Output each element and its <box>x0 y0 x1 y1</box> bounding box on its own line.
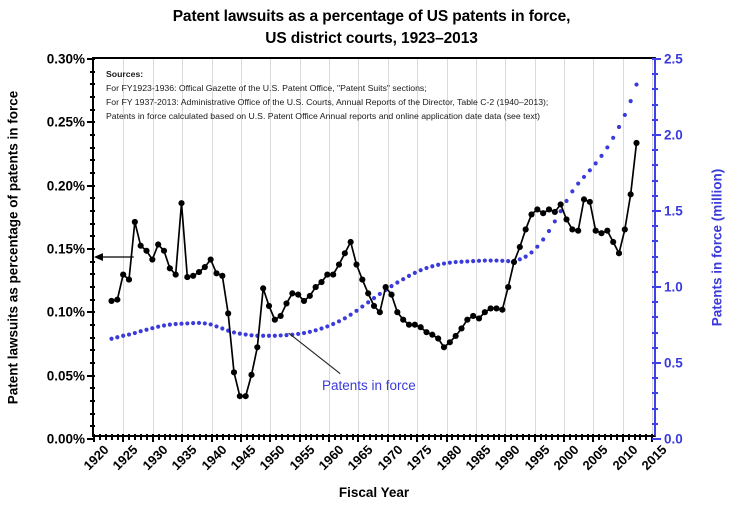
series-point-patent-lawsuits <box>418 324 424 330</box>
series-point-patents-in-force <box>477 259 481 263</box>
y-axis-right-title: Patents in force (million) <box>706 57 728 437</box>
x-axis-tick <box>181 434 183 442</box>
x-axis-minor-tick <box>352 434 354 440</box>
y-axis-right-minor-tick <box>652 301 658 303</box>
x-axis-minor-tick <box>551 434 553 440</box>
series-point-patents-in-force <box>465 259 469 263</box>
series-point-patent-lawsuits <box>342 250 348 256</box>
series-point-patents-in-force <box>109 337 113 341</box>
x-axis-tick-label: 1965 <box>345 442 376 473</box>
series-point-patents-in-force <box>238 332 242 336</box>
y-axis-right-tick-label: 0.5 <box>664 356 683 371</box>
x-axis-minor-tick <box>451 434 453 440</box>
series-point-patent-lawsuits <box>394 309 400 315</box>
series-point-patents-in-force <box>249 333 253 337</box>
y-axis-right-tick <box>652 286 661 288</box>
series-point-patents-in-force <box>599 154 603 158</box>
series-point-patent-lawsuits <box>371 303 377 309</box>
x-axis-minor-tick <box>510 434 512 440</box>
x-axis-tick-label: 1995 <box>521 442 552 473</box>
y-axis-left-tick-label: 0.20% <box>47 178 85 193</box>
series-point-patents-in-force <box>150 326 154 330</box>
series-point-patents-in-force <box>191 321 195 325</box>
patents-in-force-leader-line <box>289 333 341 374</box>
x-axis-tick <box>299 434 301 442</box>
series-point-patent-lawsuits <box>149 256 155 262</box>
x-axis-tick <box>328 434 330 442</box>
series-point-patents-in-force <box>162 323 166 327</box>
series-point-patent-lawsuits <box>138 243 144 249</box>
x-axis-tick <box>211 434 213 442</box>
x-axis-minor-tick <box>369 434 371 440</box>
x-axis-tick-label: 1990 <box>492 442 523 473</box>
series-point-patents-in-force <box>174 322 178 326</box>
x-axis-minor-tick <box>164 434 166 440</box>
series-point-patent-lawsuits <box>336 261 342 267</box>
y-axis-right-minor-tick <box>652 73 658 75</box>
y-axis-left-minor-tick <box>90 299 95 301</box>
x-axis-minor-tick <box>246 434 248 440</box>
x-axis-tick-label: 1945 <box>227 442 258 473</box>
x-axis-minor-tick <box>216 434 218 440</box>
series-point-patent-lawsuits <box>132 219 138 225</box>
x-axis-tick-label: 1930 <box>139 442 170 473</box>
y-axis-left-tick <box>87 248 95 250</box>
series-point-patent-lawsuits <box>528 211 534 217</box>
y-axis-left-minor-tick <box>90 261 95 263</box>
series-point-patent-lawsuits <box>272 317 278 323</box>
series-point-patents-in-force <box>535 245 539 249</box>
y-axis-left-tick-label: 0.10% <box>47 305 85 320</box>
series-point-patent-lawsuits <box>260 285 266 291</box>
series-point-patent-lawsuits <box>470 313 476 319</box>
series-point-patent-lawsuits <box>219 273 225 279</box>
series-point-patent-lawsuits <box>505 284 511 290</box>
y-axis-right-minor-tick <box>652 271 658 273</box>
series-point-patents-in-force <box>401 277 405 281</box>
patents-in-force-annotation-label: Patents in force <box>322 378 416 393</box>
x-axis-tick <box>387 434 389 442</box>
x-axis-tick <box>240 434 242 442</box>
x-axis-tick-label: 1975 <box>404 442 435 473</box>
x-axis-minor-tick <box>481 434 483 440</box>
x-axis-minor-tick <box>287 434 289 440</box>
series-point-patent-lawsuits <box>569 226 575 232</box>
series-point-patents-in-force <box>273 334 277 338</box>
series-point-patents-in-force <box>267 334 271 338</box>
series-point-patents-in-force <box>156 325 160 329</box>
y-axis-right-minor-tick <box>652 392 658 394</box>
x-axis-minor-tick <box>363 434 365 440</box>
x-axis-minor-tick <box>293 434 295 440</box>
series-point-patent-lawsuits <box>295 292 301 298</box>
series-point-patent-lawsuits <box>412 322 418 328</box>
series-point-patent-lawsuits <box>604 228 610 234</box>
x-axis-minor-tick <box>169 434 171 440</box>
x-axis-minor-tick <box>528 434 530 440</box>
series-point-patents-in-force <box>629 99 633 103</box>
x-axis-minor-tick <box>128 434 130 440</box>
x-axis-tick-label: 2015 <box>639 442 670 473</box>
series-point-patents-in-force <box>244 332 248 336</box>
series-point-patent-lawsuits <box>353 261 359 267</box>
x-axis-tick-label: 1960 <box>316 442 347 473</box>
series-point-patent-lawsuits <box>587 199 593 205</box>
series-point-patent-lawsuits <box>266 303 272 309</box>
series-point-patent-lawsuits <box>558 201 564 207</box>
series-point-patents-in-force <box>547 229 551 233</box>
series-point-patent-lawsuits <box>237 393 243 399</box>
x-axis-minor-tick <box>252 434 254 440</box>
x-axis-minor-tick <box>410 434 412 440</box>
series-point-patents-in-force <box>314 328 318 332</box>
series-point-patents-in-force <box>419 268 423 272</box>
series-point-patents-in-force <box>308 330 312 334</box>
y-axis-left-title-text: Patent lawsuits as percentage of patents… <box>6 90 21 404</box>
x-axis-minor-tick <box>581 434 583 440</box>
y-axis-right-tick-label: 2.0 <box>664 128 683 143</box>
x-axis-tick-label: 1955 <box>286 442 317 473</box>
series-point-patents-in-force <box>395 280 399 284</box>
series-point-patent-lawsuits <box>453 333 459 339</box>
x-axis-tick <box>475 434 477 442</box>
series-point-patent-lawsuits <box>575 228 581 234</box>
y-axis-left-title: Patent lawsuits as percentage of patents… <box>3 57 23 437</box>
x-axis-minor-tick <box>493 434 495 440</box>
y-axis-right-tick <box>652 210 661 212</box>
series-point-patent-lawsuits <box>184 274 190 280</box>
sources-line-2: For FY 1937-2013: Administrative Office … <box>106 95 548 109</box>
sources-header: Sources: <box>106 67 548 81</box>
x-axis-minor-tick <box>575 434 577 440</box>
series-point-patents-in-force <box>436 263 440 267</box>
x-axis-minor-tick <box>422 434 424 440</box>
x-axis-minor-tick <box>598 434 600 440</box>
series-point-patent-lawsuits <box>563 216 569 222</box>
series-point-patent-lawsuits <box>435 335 441 341</box>
x-axis-minor-tick <box>587 434 589 440</box>
x-axis-minor-tick <box>134 434 136 440</box>
series-point-patent-lawsuits <box>429 332 435 338</box>
y-axis-right-tick <box>652 134 661 136</box>
x-axis-tick-label: 2000 <box>551 442 582 473</box>
y-axis-right-tick <box>652 58 661 60</box>
series-point-patents-in-force <box>232 330 236 334</box>
series-point-patent-lawsuits <box>493 305 499 311</box>
x-axis-minor-tick <box>234 434 236 440</box>
y-axis-left-tick-label: 0.30% <box>47 52 85 67</box>
series-point-patent-lawsuits <box>517 244 523 250</box>
x-axis-tick-label: 1925 <box>110 442 141 473</box>
y-axis-left-tick-label: 0.25% <box>47 115 85 130</box>
series-point-patents-in-force <box>524 255 528 259</box>
series-point-patents-in-force <box>209 322 213 326</box>
series-point-patent-lawsuits <box>482 309 488 315</box>
series-point-patents-in-force <box>220 326 224 330</box>
series-point-patents-in-force <box>494 258 498 262</box>
y-axis-left-minor-tick <box>90 362 95 364</box>
series-point-patents-in-force <box>378 292 382 296</box>
y-axis-right-tick <box>652 438 661 440</box>
series-point-patents-in-force <box>168 323 172 327</box>
series-point-patents-in-force <box>611 136 615 140</box>
series-point-patent-lawsuits <box>213 270 219 276</box>
series-point-patent-lawsuits <box>313 284 319 290</box>
x-axis-minor-tick <box>199 434 201 440</box>
series-point-patent-lawsuits <box>406 322 412 328</box>
x-axis-minor-tick <box>639 434 641 440</box>
chart-title-line-1: Patent lawsuits as a percentage of US pa… <box>173 8 571 25</box>
series-line-patent-lawsuits <box>112 143 637 396</box>
x-axis-minor-tick <box>569 434 571 440</box>
series-point-patents-in-force <box>454 260 458 264</box>
y-axis-left-minor-tick <box>90 109 95 111</box>
series-point-patents-in-force <box>448 261 452 265</box>
x-axis-tick-label: 1950 <box>257 442 288 473</box>
x-axis-tick-label: 2005 <box>580 442 611 473</box>
series-point-patent-lawsuits <box>359 277 365 283</box>
x-axis-minor-tick <box>187 434 189 440</box>
y-axis-right-minor-tick <box>652 408 658 410</box>
series-point-patents-in-force <box>284 333 288 337</box>
series-point-patent-lawsuits <box>388 292 394 298</box>
y-axis-left-minor-tick <box>90 147 95 149</box>
series-point-patents-in-force <box>360 304 364 308</box>
series-point-patent-lawsuits <box>143 248 149 254</box>
y-axis-left-tick <box>87 311 95 313</box>
y-axis-right-minor-tick <box>652 347 658 349</box>
series-point-patent-lawsuits <box>301 298 307 304</box>
series-point-patents-in-force <box>366 300 370 304</box>
series-point-patents-in-force <box>372 296 376 300</box>
series-point-patent-lawsuits <box>598 230 604 236</box>
series-point-patents-in-force <box>325 324 329 328</box>
y-axis-right-minor-tick <box>652 119 658 121</box>
x-axis-minor-tick <box>645 434 647 440</box>
x-axis-minor-tick <box>393 434 395 440</box>
series-point-patent-lawsuits <box>499 307 505 313</box>
x-axis-minor-tick <box>305 434 307 440</box>
series-point-patent-lawsuits <box>248 372 254 378</box>
x-axis-tick <box>416 434 418 442</box>
x-axis-tick-label: 1920 <box>81 442 112 473</box>
series-point-patents-in-force <box>459 260 463 264</box>
series-point-patent-lawsuits <box>348 239 354 245</box>
series-point-patent-lawsuits <box>511 259 517 265</box>
series-point-patent-lawsuits <box>225 310 231 316</box>
y-axis-left-minor-tick <box>90 96 95 98</box>
y-axis-right-minor-tick <box>652 88 658 90</box>
series-point-patent-lawsuits <box>289 290 295 296</box>
series-point-patents-in-force <box>127 332 131 336</box>
series-point-patents-in-force <box>518 257 522 261</box>
series-point-patent-lawsuits <box>447 339 453 345</box>
y-axis-right-minor-tick <box>652 149 658 151</box>
y-axis-left-minor-tick <box>90 387 95 389</box>
y-axis-left-minor-tick <box>90 273 95 275</box>
y-axis-right-minor-tick <box>652 104 658 106</box>
series-point-patents-in-force <box>179 322 183 326</box>
x-axis-minor-tick <box>158 434 160 440</box>
series-point-patents-in-force <box>617 125 621 129</box>
x-axis-tick-label: 1980 <box>433 442 464 473</box>
y-axis-left-tick <box>87 375 95 377</box>
y-axis-right-minor-tick <box>652 164 658 166</box>
y-axis-left-minor-tick <box>90 349 95 351</box>
series-point-patents-in-force <box>144 328 148 332</box>
series-point-patent-lawsuits <box>476 315 482 321</box>
series-point-patent-lawsuits <box>377 309 383 315</box>
x-axis-minor-tick <box>146 434 148 440</box>
x-axis-minor-tick <box>487 434 489 440</box>
series-point-patent-lawsuits <box>318 279 324 285</box>
x-axis-minor-tick <box>334 434 336 440</box>
y-axis-left-minor-tick <box>90 425 95 427</box>
x-axis-minor-tick <box>604 434 606 440</box>
y-axis-right-title-text: Patents in force (million) <box>710 168 725 326</box>
series-point-patents-in-force <box>541 237 545 241</box>
y-axis-right-tick-label: 2.5 <box>664 52 683 67</box>
chart-title-line-2: US district courts, 1923–2013 <box>0 28 743 50</box>
series-point-patents-in-force <box>442 261 446 265</box>
sources-line-1: For FY1923-1936: Offical Gazette of the … <box>106 81 548 95</box>
series-point-patents-in-force <box>185 321 189 325</box>
series-point-patents-in-force <box>471 259 475 263</box>
series-point-patents-in-force <box>115 335 119 339</box>
series-point-patent-lawsuits <box>155 241 161 247</box>
series-point-patents-in-force <box>424 266 428 270</box>
series-point-patent-lawsuits <box>208 256 214 262</box>
x-axis-minor-tick <box>105 434 107 440</box>
y-axis-left-minor-tick <box>90 324 95 326</box>
y-axis-left-minor-tick <box>90 235 95 237</box>
x-axis-minor-tick <box>498 434 500 440</box>
x-axis-tick-label: 1970 <box>374 442 405 473</box>
x-axis-minor-tick <box>99 434 101 440</box>
series-point-patents-in-force <box>564 199 568 203</box>
x-axis-minor-tick <box>346 434 348 440</box>
series-point-patents-in-force <box>197 321 201 325</box>
x-axis-minor-tick <box>399 434 401 440</box>
series-point-patents-in-force <box>588 168 592 172</box>
x-axis-minor-tick <box>340 434 342 440</box>
y-axis-right-tick-label: 1.0 <box>664 280 683 295</box>
series-point-patent-lawsuits <box>423 329 429 335</box>
series-point-patent-lawsuits <box>523 226 529 232</box>
series-point-patents-in-force <box>605 145 609 149</box>
series-point-patent-lawsuits <box>365 290 371 296</box>
y-axis-left-tick-label: 0.00% <box>47 432 85 447</box>
series-point-patent-lawsuits <box>254 344 260 350</box>
y-axis-right-minor-tick <box>652 332 658 334</box>
x-axis-minor-tick <box>463 434 465 440</box>
series-point-patents-in-force <box>349 313 353 317</box>
series-point-patent-lawsuits <box>534 206 540 212</box>
series-point-patents-in-force <box>343 316 347 320</box>
series-point-patent-lawsuits <box>278 313 284 319</box>
x-axis-minor-tick <box>428 434 430 440</box>
series-point-patent-lawsuits <box>243 393 249 399</box>
series-point-patents-in-force <box>331 322 335 326</box>
x-axis-minor-tick <box>316 434 318 440</box>
series-point-patent-lawsuits <box>633 140 639 146</box>
series-point-patent-lawsuits <box>202 264 208 270</box>
y-axis-left-tick <box>87 185 95 187</box>
chart-root: Patent lawsuits as a percentage of US pa… <box>0 0 743 515</box>
x-axis-minor-tick <box>634 434 636 440</box>
x-axis-minor-tick <box>469 434 471 440</box>
series-point-patents-in-force <box>279 333 283 337</box>
series-point-patents-in-force <box>506 259 510 263</box>
x-axis-minor-tick <box>557 434 559 440</box>
x-axis-tick <box>622 434 624 442</box>
sources-line-3: Patents in force calculated based on U.S… <box>106 109 548 123</box>
x-axis-minor-tick <box>322 434 324 440</box>
series-point-patent-lawsuits <box>178 200 184 206</box>
y-axis-left-minor-tick <box>90 210 95 212</box>
sources-note: Sources: For FY1923-1936: Offical Gazett… <box>106 67 548 123</box>
y-axis-left-minor-tick <box>90 400 95 402</box>
x-axis-minor-tick <box>175 434 177 440</box>
x-axis-tick <box>446 434 448 442</box>
y-axis-left-minor-tick <box>90 71 95 73</box>
y-axis-right-minor-tick <box>652 316 658 318</box>
x-axis-minor-tick <box>545 434 547 440</box>
y-axis-right-minor-tick <box>652 423 658 425</box>
y-axis-right-minor-tick <box>652 225 658 227</box>
x-axis-minor-tick <box>628 434 630 440</box>
y-axis-right-minor-tick <box>652 240 658 242</box>
series-point-patents-in-force <box>337 319 341 323</box>
x-axis-minor-tick <box>263 434 265 440</box>
x-axis-minor-tick <box>117 434 119 440</box>
series-point-patent-lawsuits <box>610 239 616 245</box>
x-axis-tick <box>357 434 359 442</box>
series-point-patents-in-force <box>354 309 358 313</box>
y-axis-right-minor-tick <box>652 256 658 258</box>
series-point-patents-in-force <box>489 258 493 262</box>
x-axis-tick <box>504 434 506 442</box>
x-axis-minor-tick <box>222 434 224 440</box>
series-point-patents-in-force <box>570 189 574 193</box>
series-point-patents-in-force <box>582 175 586 179</box>
x-axis-minor-tick <box>522 434 524 440</box>
x-axis-title: Fiscal Year <box>92 485 656 500</box>
series-point-patents-in-force <box>407 274 411 278</box>
x-axis-tick-label: 1935 <box>169 442 200 473</box>
series-point-patent-lawsuits <box>593 228 599 234</box>
y-axis-left-minor-tick <box>90 83 95 85</box>
y-axis-left-minor-tick <box>90 134 95 136</box>
x-axis-tick-label: 2010 <box>609 442 640 473</box>
series-point-patent-lawsuits <box>581 196 587 202</box>
x-axis-tick <box>122 434 124 442</box>
x-axis-minor-tick <box>310 434 312 440</box>
series-point-patent-lawsuits <box>161 248 167 254</box>
y-axis-left-minor-tick <box>90 197 95 199</box>
y-axis-left-minor-tick <box>90 172 95 174</box>
series-point-patents-in-force <box>553 219 557 223</box>
series-point-patents-in-force <box>296 332 300 336</box>
y-axis-left-tick <box>87 121 95 123</box>
series-point-patents-in-force <box>261 334 265 338</box>
series-point-patents-in-force <box>319 326 323 330</box>
series-point-patent-lawsuits <box>400 317 406 323</box>
series-point-patent-lawsuits <box>330 272 336 278</box>
x-axis-tick <box>269 434 271 442</box>
left-axis-arrow-annotation <box>94 253 134 261</box>
x-axis-minor-tick <box>616 434 618 440</box>
